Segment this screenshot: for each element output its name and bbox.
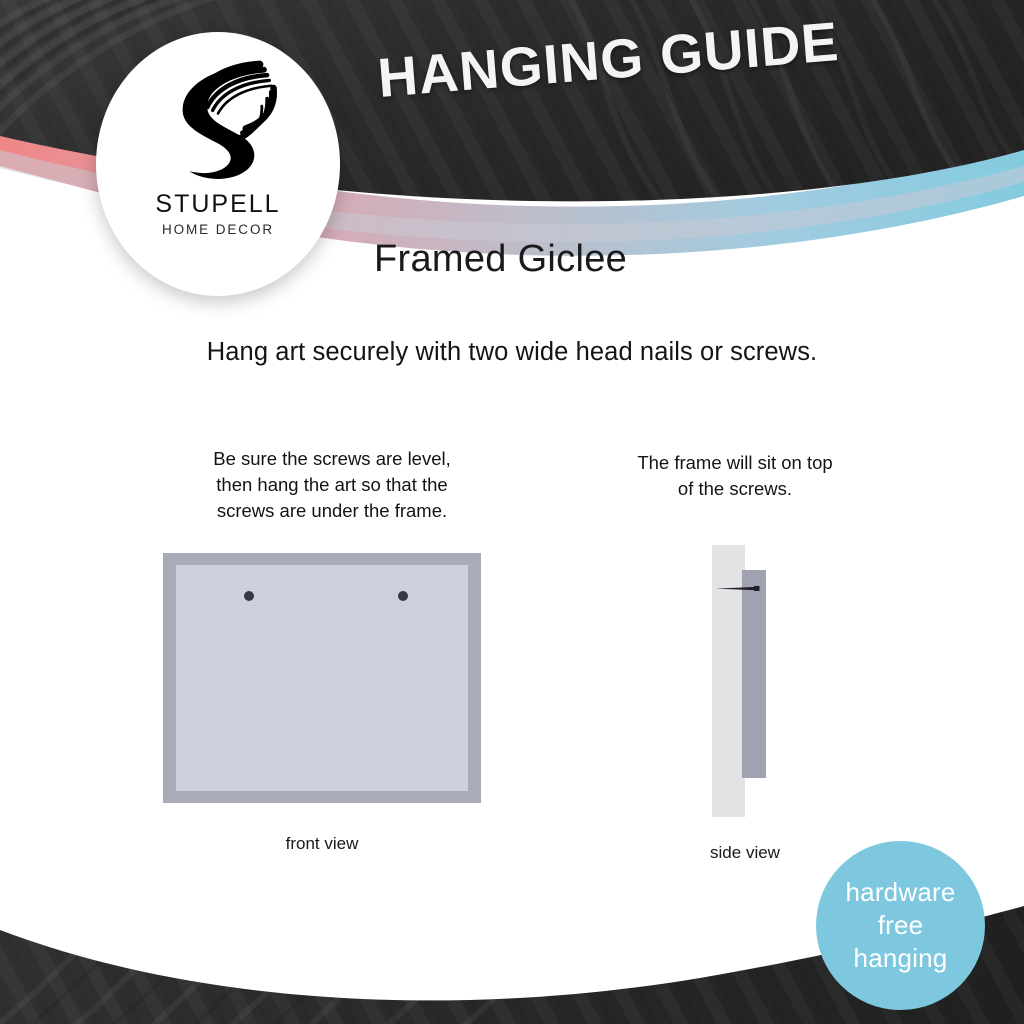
- badge-line-2: free: [878, 909, 924, 942]
- frame-inner-panel: [176, 565, 468, 791]
- side-view-caption: The frame will sit on top of the screws.: [566, 450, 904, 502]
- front-view-label: front view: [163, 834, 481, 854]
- side-view-label: side view: [655, 843, 835, 863]
- front-caption-line-3: screws are under the frame.: [140, 498, 524, 524]
- nail-icon: [716, 586, 770, 591]
- side-caption-line-1: The frame will sit on top: [566, 450, 904, 476]
- front-caption-line-1: Be sure the screws are level,: [140, 446, 524, 472]
- stupell-swoosh-logo-icon: [152, 58, 284, 184]
- hardware-free-hanging-badge: hardware free hanging: [816, 841, 985, 1010]
- front-caption-line-2: then hang the art so that the: [140, 472, 524, 498]
- badge-line-1: hardware: [846, 876, 956, 909]
- hanging-guide-page: STUPELL HOME DECOR HANGING GUIDE Framed …: [0, 0, 1024, 1024]
- brand-logo-badge: STUPELL HOME DECOR: [96, 32, 340, 296]
- side-view-diagram: [700, 545, 790, 817]
- brand-name: STUPELL: [155, 190, 280, 219]
- front-view-frame-diagram: [163, 553, 481, 803]
- side-caption-line-2: of the screws.: [566, 476, 904, 502]
- screw-dot-right-icon: [398, 591, 408, 601]
- screw-dot-left-icon: [244, 591, 254, 601]
- badge-line-3: hanging: [854, 942, 948, 975]
- brand-tagline: HOME DECOR: [162, 222, 274, 237]
- front-view-caption: Be sure the screws are level, then hang …: [140, 446, 524, 524]
- page-title: HANGING GUIDE: [375, 9, 841, 110]
- side-view-frame: [742, 570, 766, 778]
- product-type-heading: Framed Giclee: [374, 238, 627, 281]
- main-instruction-text: Hang art securely with two wide head nai…: [0, 338, 1024, 367]
